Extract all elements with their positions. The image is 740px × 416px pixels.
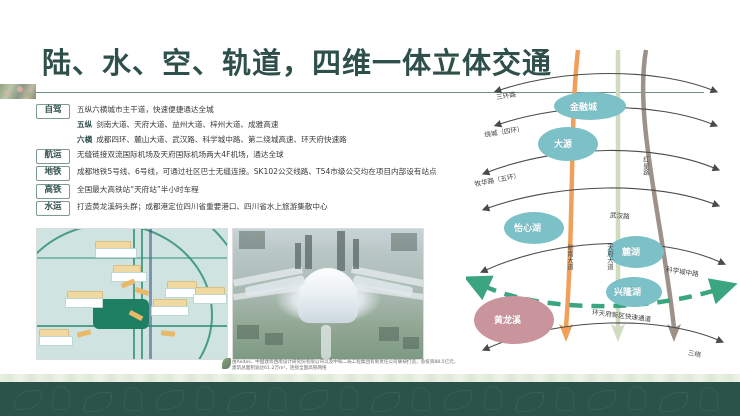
station-aerial-graphic (233, 229, 423, 359)
subline-label: 六横 (77, 135, 92, 144)
photo-station-aerial (232, 228, 424, 360)
list-item: 高铁 全国最大高铁站“天府站”半小时车程 (36, 184, 476, 199)
list-item: 自驾 五纵六横城市主干道，快速便捷通达全城 五纵剑南大道、天府大道、益州大道、梓… (36, 104, 476, 146)
label-road-jiannan: 剑南大道 (566, 244, 575, 270)
row-subline: 六横成都四环、麓山大道、武汉路、科学城中路、第二绕城高速、环天府快速路 (77, 134, 347, 146)
label-road-wuhan: 武汉路 (610, 209, 631, 221)
row-main-text: 全国最大高铁站“天府站”半小时车程 (77, 184, 199, 196)
ring-road-wuhan (488, 188, 714, 208)
row-subline: 五纵剑南大道、天府大道、益州大道、梓州大道、成雅高速 (77, 119, 347, 131)
subline-text: 剑南大道、天府大道、益州大道、梓州大道、成雅高速 (96, 120, 278, 129)
label-district-huanglongxi: 黄龙溪 (494, 313, 521, 326)
badge-aviation: 航运 (36, 149, 70, 164)
label-district-dayuan: 大源 (554, 137, 572, 150)
badge-metro: 地铁 (36, 166, 70, 181)
slide-root: 陆、水、空、轨道，四维一体立体交通 自驾 五纵六横城市主干道，快速便捷通达全城 … (0, 0, 740, 416)
row-main-text: 成都地铁5号线、6号线，可通过社区巴士无缝连接。SK102公交线路、T54市级公… (77, 166, 437, 178)
ring-road-3 (500, 74, 712, 91)
subline-label: 五纵 (77, 120, 92, 129)
label-road-hongxing: 红星路 (642, 156, 651, 175)
bottom-band-accent (0, 374, 740, 382)
row-main-text: 五纵六横城市主干道，快速便捷通达全城 (77, 104, 347, 116)
label-district-yixinhu: 怡心湖 (514, 221, 541, 234)
bottom-band (0, 382, 740, 416)
ring-road-5 (488, 150, 714, 172)
photo-distance-map (36, 228, 228, 360)
photo-note: 由Aedas、中国建筑西南设计研究院有限公司以及中铁二局工程集团有限责任公司联袂… (232, 360, 462, 373)
subline-text: 成都四环、麓山大道、武汉路、科学城中路、第二绕城高速、环天府快速路 (96, 135, 347, 144)
list-item: 航运 无缝链接双流国际机场及天府国际机场两大4F机场，通达全球 (36, 149, 476, 164)
badge-waterway: 水运 (36, 201, 70, 216)
list-item: 水运 打造黄龙溪码头群；成都港定位四川省重要港口、四川省水上旅游集散中心 (36, 201, 476, 216)
label-district-xinglonghu: 兴隆湖 (614, 285, 641, 298)
row-main-text: 打造黄龙溪码头群；成都港定位四川省重要港口、四川省水上旅游集散中心 (77, 201, 328, 213)
badge-self-drive: 自驾 (36, 104, 70, 119)
row-main-text: 无缝链接双流国际机场及天府国际机场两大4F机场，通达全球 (77, 149, 284, 161)
label-road-3rd-outer: 三绕 (687, 347, 702, 359)
list-item: 地铁 成都地铁5号线、6号线，可通过社区巴士无缝连接。SK102公交线路、T54… (36, 166, 476, 181)
row-text: 五纵六横城市主干道，快速便捷通达全城 五纵剑南大道、天府大道、益州大道、梓州大道… (77, 104, 347, 146)
leaf-decoration-icon (0, 84, 36, 99)
label-district-luhu: 麓湖 (622, 245, 640, 258)
label-district-jinrongcheng: 金融城 (570, 100, 597, 113)
transport-list: 自驾 五纵六横城市主干道，快速便捷通达全城 五纵剑南大道、天府大道、益州大道、梓… (36, 104, 476, 219)
badge-highspeed-rail: 高铁 (36, 184, 70, 199)
label-road-tianfu: 天府大道 (606, 244, 615, 270)
transport-diagram: 三环路 绕城（四环） 牧华路（五环） 武汉路 科学城中路 三绕 剑南大道 天府大… (466, 28, 740, 378)
note-leaf-icon (222, 358, 231, 369)
distance-map-graphic (37, 229, 227, 359)
